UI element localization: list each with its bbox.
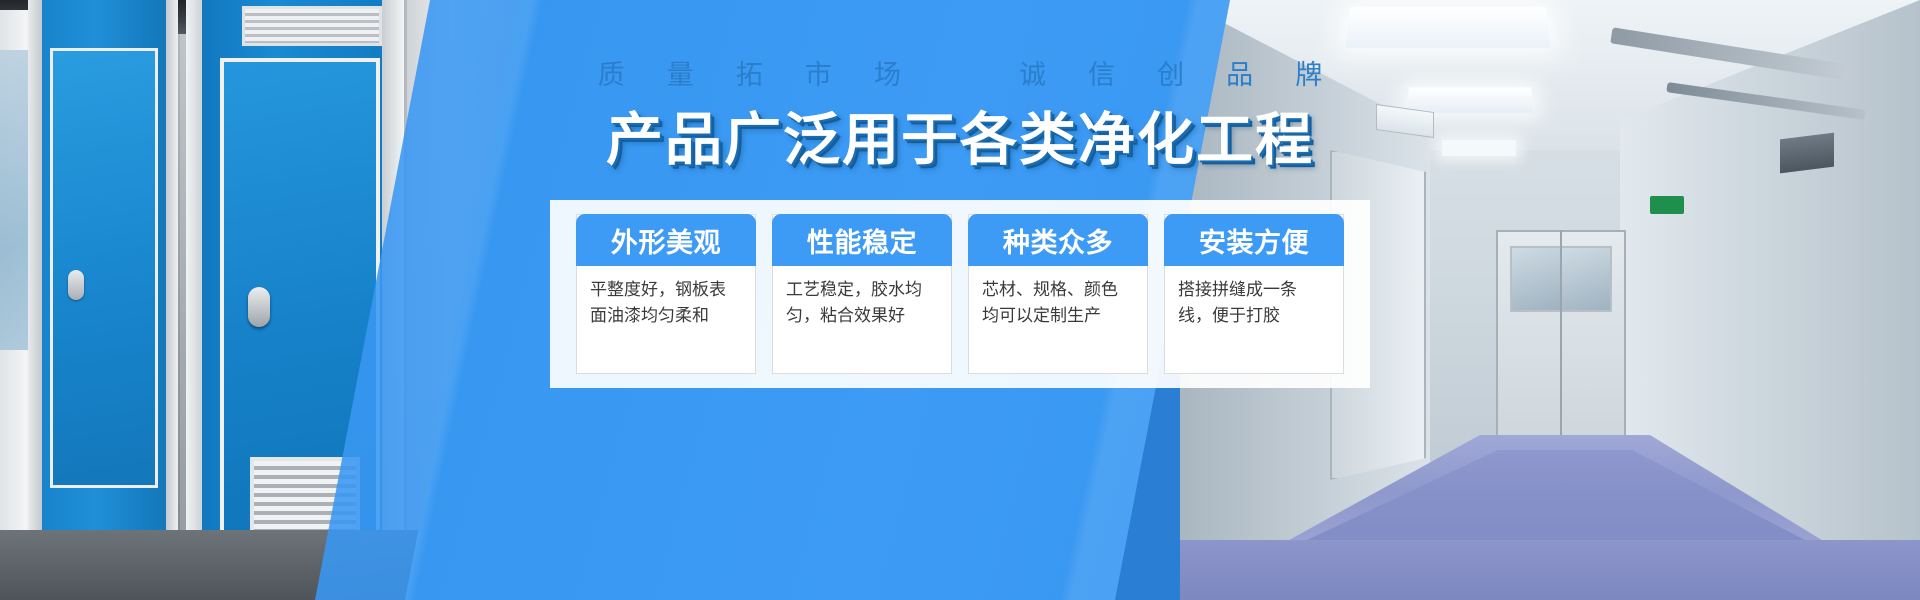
corridor-door-seam (1560, 230, 1562, 460)
feature-card-title: 安装方便 (1164, 214, 1344, 266)
promo-banner: 质 量 拓 市 场 诚 信 创 品 牌 产品广泛用于各类净化工程 外形美观 平整… (0, 0, 1920, 600)
corridor-floor-base (1180, 540, 1920, 600)
feature-card-title: 外形美观 (576, 214, 756, 266)
cabin-door-handle-2 (248, 287, 270, 327)
feature-card[interactable]: 性能稳定 工艺稳定，胶水均匀，粘合效果好 (772, 214, 952, 374)
feature-card[interactable]: 安装方便 搭接拼缝成一条线，便于打胶 (1164, 214, 1344, 374)
banner-headline: 产品广泛用于各类净化工程 (0, 111, 1920, 171)
ceiling-light-1 (1345, 7, 1550, 48)
banner-text-block: 质 量 拓 市 场 诚 信 创 品 牌 产品广泛用于各类净化工程 (0, 62, 1920, 171)
exit-sign-icon (1650, 196, 1684, 214)
feature-card-title: 种类众多 (968, 214, 1148, 266)
feature-card-body: 平整度好，钢板表面油漆均匀柔和 (577, 266, 755, 373)
feature-card-body: 搭接拼缝成一条线，便于打胶 (1165, 266, 1343, 373)
feature-card-title: 性能稳定 (772, 214, 952, 266)
feature-card-body: 芯材、规格、颜色均可以定制生产 (969, 266, 1147, 373)
banner-tagline: 质 量 拓 市 场 诚 信 创 品 牌 (0, 62, 1920, 89)
feature-card[interactable]: 种类众多 芯材、规格、颜色均可以定制生产 (968, 214, 1148, 374)
cabin-door-handle-1 (68, 270, 84, 300)
feature-cards-panel: 外形美观 平整度好，钢板表面油漆均匀柔和 性能稳定 工艺稳定，胶水均匀，粘合效果… (550, 200, 1370, 388)
feature-card[interactable]: 外形美观 平整度好，钢板表面油漆均匀柔和 (576, 214, 756, 374)
feature-card-body: 工艺稳定，胶水均匀，粘合效果好 (773, 266, 951, 373)
cabin-vent-top (242, 6, 382, 46)
